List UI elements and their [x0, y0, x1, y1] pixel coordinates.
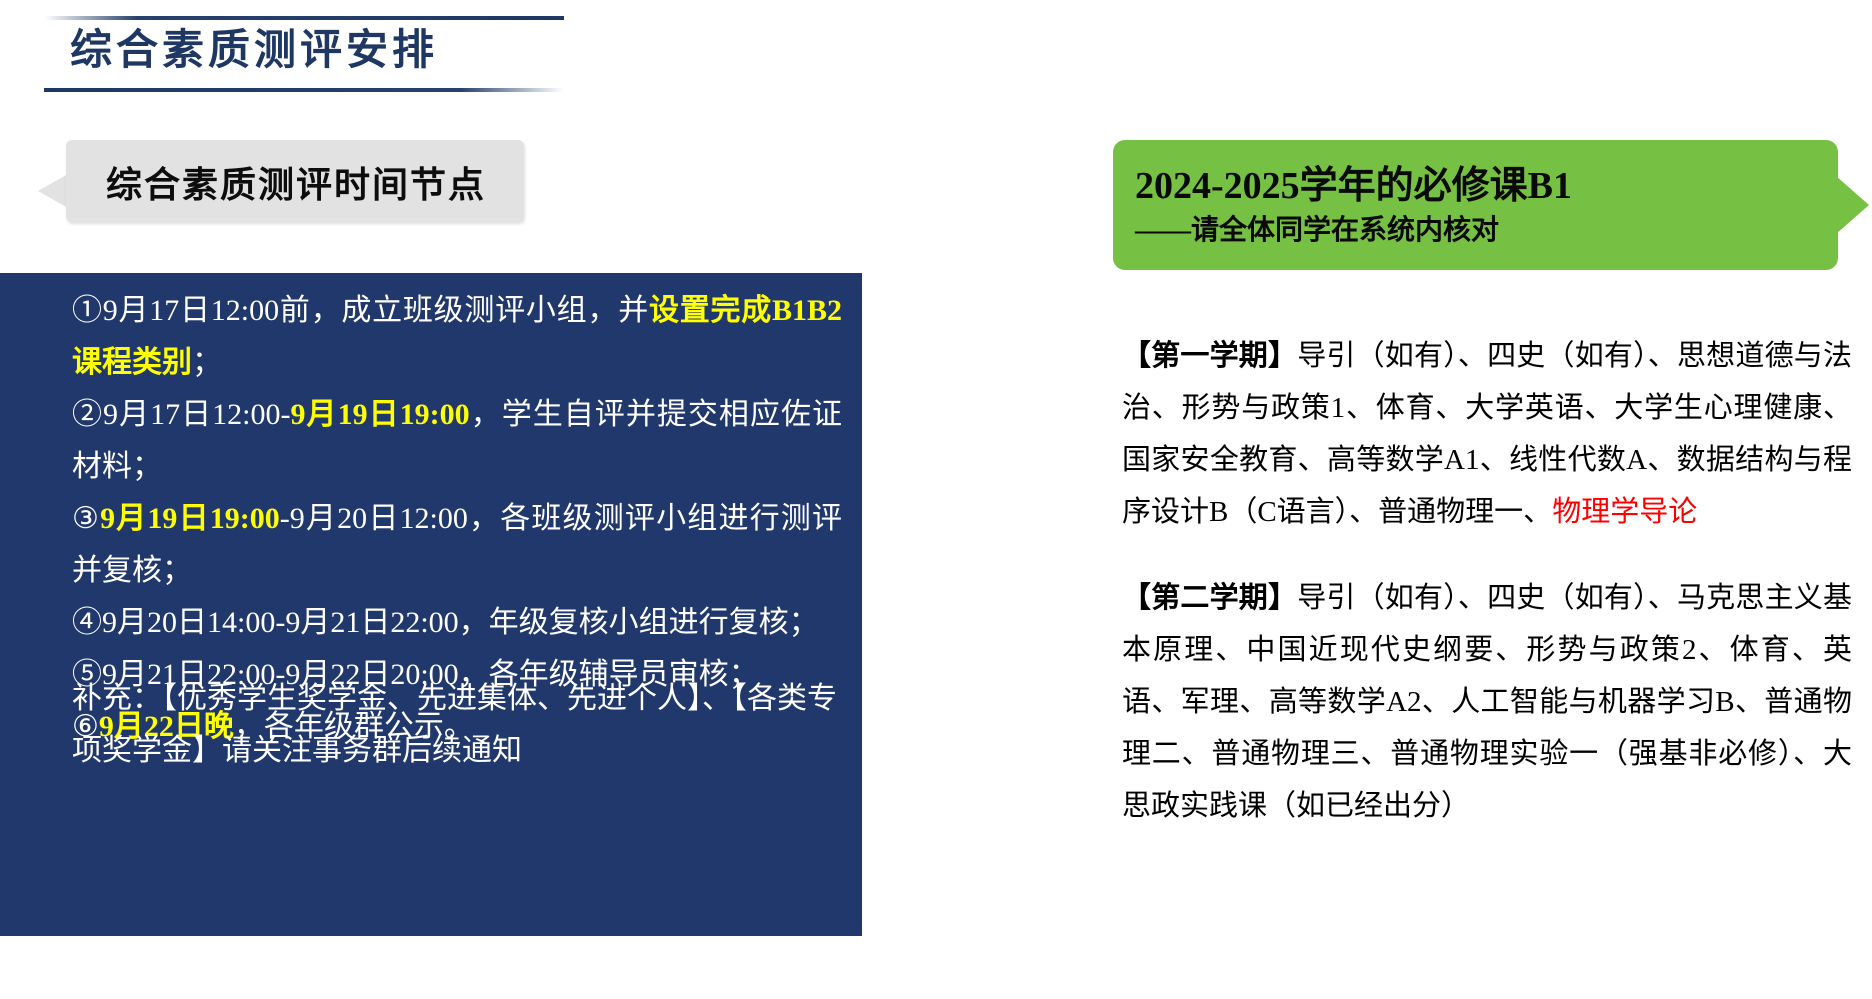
course-term-body: 导引（如有）、四史（如有）、马克思主义基本原理、中国近现代史纲要、形势与政策2、…: [1122, 582, 1852, 822]
timeline-supplement: 补充：【优秀学生奖学金、先进集体、先进个人】、【各类专项奖学金】请关注事务群后续…: [72, 673, 842, 777]
course-term-list: 【第一学期】导引（如有）、四史（如有）、思想道德与法治、形势与政策1、体育、大学…: [1122, 330, 1852, 832]
green-banner-arrow-icon: [1836, 176, 1869, 234]
term-spacer: [1122, 538, 1852, 572]
timeline-item-marker: ③: [72, 502, 100, 535]
timeline-item-marker: ①: [72, 294, 103, 327]
timeline-section-label: 综合素质测评时间节点: [78, 156, 514, 208]
course-term: 【第二学期】导引（如有）、四史（如有）、马克思主义基本原理、中国近现代史纲要、形…: [1122, 572, 1852, 832]
required-courses-title: 2024-2025学年的必修课B1: [1135, 154, 1572, 209]
timeline-panel: ①9月17日12:00前，成立班级测评小组，并设置完成B1B2课程类别；②9月1…: [0, 273, 862, 936]
timeline-item-highlight: 9月19日19:00: [291, 398, 470, 431]
timeline-item-text: 9月17日12:00前，成立班级测评小组，并: [103, 294, 649, 327]
timeline-item-highlight: 9月19日19:00: [100, 502, 280, 535]
required-courses-subtitle: ——请全体同学在系统内核对: [1135, 208, 1499, 248]
page-title: 综合素质测评安排: [70, 20, 438, 82]
page-title-block: 综合素质测评安排: [44, 6, 564, 98]
course-term-label: 【第一学期】: [1122, 340, 1297, 372]
course-term-highlight: 物理学导论: [1552, 496, 1697, 528]
timeline-item: ③9月19日19:00-9月20日12:00，各班级测评小组进行测评并复核；: [72, 493, 842, 597]
timeline-section-banner: 综合素质测评时间节点: [66, 140, 524, 222]
timeline-item-marker: ④: [72, 606, 102, 639]
timeline-item: ②9月17日12:00-9月19日19:00，学生自评并提交相应佐证材料；: [72, 389, 842, 493]
grey-banner-arrow-icon: [38, 174, 68, 208]
timeline-item-text: ；: [192, 346, 222, 379]
timeline-item: ①9月17日12:00前，成立班级测评小组，并设置完成B1B2课程类别；: [72, 285, 842, 389]
timeline-item: ④9月20日14:00-9月21日22:00，年级复核小组进行复核；: [72, 597, 842, 649]
course-term-label: 【第二学期】: [1122, 582, 1297, 614]
required-courses-banner: 2024-2025学年的必修课B1 ——请全体同学在系统内核对: [1113, 140, 1838, 270]
timeline-item-text: 9月20日14:00-9月21日22:00，年级复核小组进行复核；: [102, 606, 819, 639]
title-bottom-rule: [44, 88, 564, 92]
supplement-text: 补充：【优秀学生奖学金、先进集体、先进个人】、【各类专项奖学金】请关注事务群后续…: [72, 673, 842, 777]
course-term: 【第一学期】导引（如有）、四史（如有）、思想道德与法治、形势与政策1、体育、大学…: [1122, 330, 1852, 538]
timeline-item-text: 9月17日12:00-: [103, 398, 290, 431]
timeline-item-marker: ②: [72, 398, 103, 431]
